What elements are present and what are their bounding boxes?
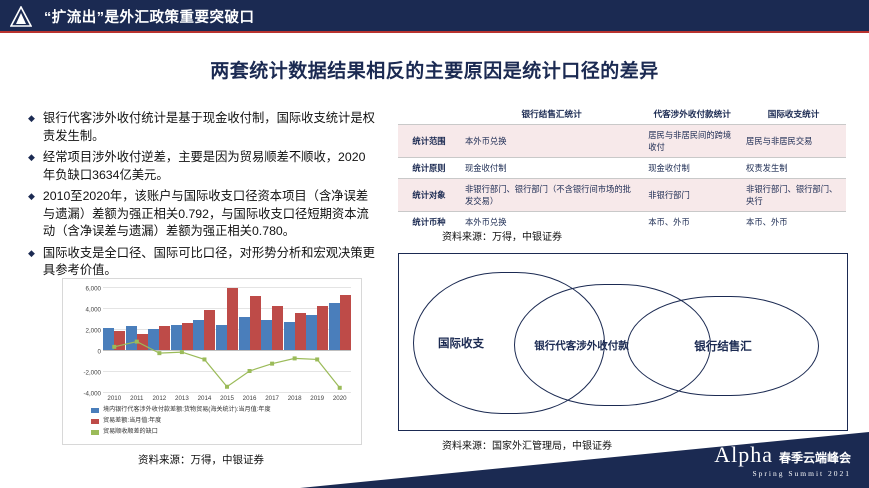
slide-header: “扩流出”是外汇政策重要突破口 [0, 0, 869, 33]
chart-line-series [103, 287, 351, 392]
table-cell: 居民与非居民交易 [741, 125, 846, 158]
chart-y-tick: 4,000 [86, 307, 101, 314]
table-cell: 非银行部门 [643, 179, 741, 212]
legend-item: 境内银行代客涉外收付款差额:货物贸易(海关统计):当月值:年度 [91, 405, 271, 415]
chart-gridline [103, 392, 351, 393]
bullet-diamond-icon: ◆ [28, 188, 35, 241]
chart-y-tick: -4,000 [83, 391, 101, 398]
chart-y-tick: 0 [98, 349, 101, 356]
venn-diagram: 国际收支 银行代客涉外收付款 银行结售汇 [398, 253, 848, 431]
table-row-label: 统计范围 [398, 125, 460, 158]
table-row: 统计对象非银行部门、银行部门（不含银行间市场的批发交易）非银行部门非银行部门、银… [398, 179, 846, 212]
chart-container: 6,0004,0002,0000-2,000-4,000 20102011201… [62, 278, 362, 445]
list-item: ◆国际收支是全口径、国际可比口径，对形势分析和宏观决策更具参考价值。 [28, 245, 376, 280]
table-row-label: 统计对象 [398, 179, 460, 212]
legend-item: 贸易顺收顺差的缺口 [91, 427, 271, 437]
table-cell: 非银行部门、银行部门、央行 [741, 179, 846, 212]
table-row: 统计原则现金收付制现金收付制权责发生制 [398, 158, 846, 179]
legend-swatch-icon [91, 408, 99, 413]
table-source: 资料来源：万得，中银证券 [442, 228, 562, 243]
chart-y-axis-labels: 6,0004,0002,0000-2,000-4,000 [65, 281, 101, 393]
legend-swatch-icon [91, 430, 99, 435]
venn-label-settlement: 银行代客涉外收付款 [534, 338, 629, 353]
footer-brand-cn: 春季云端峰会 [779, 451, 851, 465]
table-row-label: 统计原则 [398, 158, 460, 179]
chart-plot-area [103, 287, 351, 392]
chart-y-tick: -2,000 [83, 370, 101, 377]
table-header-cell: 国际收支统计 [741, 104, 846, 125]
legend-label: 贸易差额:当月值:年度 [103, 416, 161, 426]
bullet-diamond-icon: ◆ [28, 149, 35, 184]
header-title: “扩流出”是外汇政策重要突破口 [44, 6, 255, 27]
table-header-cell: 银行结售汇统计 [460, 104, 643, 125]
bullet-text: 2010至2020年，该账户与国际收支口径资本项目（含净误差与遗漏）差额为强正相… [43, 188, 376, 241]
chart-x-tick: 2018 [288, 395, 302, 402]
chart-x-tick: 2013 [175, 395, 189, 402]
bullet-text: 国际收支是全口径、国际可比口径，对形势分析和宏观决策更具参考价值。 [43, 245, 376, 280]
bullet-text: 经常项目涉外收付逆差，主要是因为贸易顺差不顺收，2020年负缺口3634亿美元。 [43, 149, 376, 184]
chart-x-tick: 2015 [220, 395, 234, 402]
bullet-diamond-icon: ◆ [28, 245, 35, 280]
footer-brand: Alpha春季云端峰会 Spring Summit 2021 [714, 442, 851, 478]
bullet-list: ◆银行代客涉外收付统计是基于现金收付制，国际收支统计是权责发生制。 ◆经常项目涉… [28, 110, 376, 284]
table-cell: 现金收付制 [460, 158, 643, 179]
chart-legend: 境内银行代客涉外收付款差额:货物贸易(海关统计):当月值:年度 贸易差额:当月值… [91, 405, 271, 438]
chart-x-tick: 2014 [198, 395, 212, 402]
table-header-cell [398, 104, 460, 125]
chart-x-tick: 2016 [243, 395, 257, 402]
table-cell: 本外币兑换 [460, 125, 643, 158]
legend-label: 境内银行代客涉外收付款差额:货物贸易(海关统计):当月值:年度 [103, 405, 271, 415]
bullet-text: 银行代客涉外收付统计是基于现金收付制，国际收支统计是权责发生制。 [43, 110, 376, 145]
venn-circle-inner: 银行结售汇 [627, 296, 819, 396]
comparison-table: 银行结售汇统计代客涉外收付款统计国际收支统计统计范围本外币兑换居民与非居民间的跨… [398, 104, 846, 232]
chart-y-tick: 2,000 [86, 328, 101, 335]
table-cell: 权责发生制 [741, 158, 846, 179]
legend-label: 贸易顺收顺差的缺口 [103, 427, 158, 437]
bullet-diamond-icon: ◆ [28, 110, 35, 145]
venn-label-bop: 国际收支 [438, 335, 484, 351]
page-title: 两套统计数据结果相反的主要原因是统计口径的差异 [0, 56, 869, 83]
table-header-cell: 代客涉外收付款统计 [643, 104, 741, 125]
chart-x-tick: 2019 [310, 395, 324, 402]
table-cell: 非银行部门、银行部门（不含银行间市场的批发交易） [460, 179, 643, 212]
chart-x-tick: 2012 [152, 395, 166, 402]
venn-label-sale: 银行结售汇 [694, 338, 752, 354]
chart-x-tick: 2020 [333, 395, 347, 402]
legend-item: 贸易差额:当月值:年度 [91, 416, 271, 426]
chart-y-tick: 6,000 [86, 286, 101, 293]
venn-source: 资料来源：国家外汇管理局，中银证券 [442, 437, 612, 452]
chart-source: 资料来源：万得，中银证券 [138, 452, 264, 467]
table-cell: 居民与非居民间的跨境收付 [643, 125, 741, 158]
footer-brand-name: Alpha [714, 442, 773, 467]
table-header-row: 银行结售汇统计代客涉外收付款统计国际收支统计 [398, 104, 846, 125]
chart-x-tick: 2010 [107, 395, 121, 402]
chart-x-tick: 2011 [130, 395, 143, 402]
footer-brand-sub: Spring Summit 2021 [714, 469, 851, 478]
chart-x-tick: 2017 [265, 395, 279, 402]
table-row: 统计范围本外币兑换居民与非居民间的跨境收付居民与非居民交易 [398, 125, 846, 158]
table-cell: 现金收付制 [643, 158, 741, 179]
list-item: ◆2010至2020年，该账户与国际收支口径资本项目（含净误差与遗漏）差额为强正… [28, 188, 376, 241]
list-item: ◆银行代客涉外收付统计是基于现金收付制，国际收支统计是权责发生制。 [28, 110, 376, 145]
table-cell: 本币、外币 [643, 212, 741, 233]
brand-logo-icon [0, 0, 44, 33]
legend-swatch-icon [91, 419, 99, 424]
header-accent-line [0, 31, 869, 34]
list-item: ◆经常项目涉外收付逆差，主要是因为贸易顺差不顺收，2020年负缺口3634亿美元… [28, 149, 376, 184]
table-cell: 本币、外币 [741, 212, 846, 233]
